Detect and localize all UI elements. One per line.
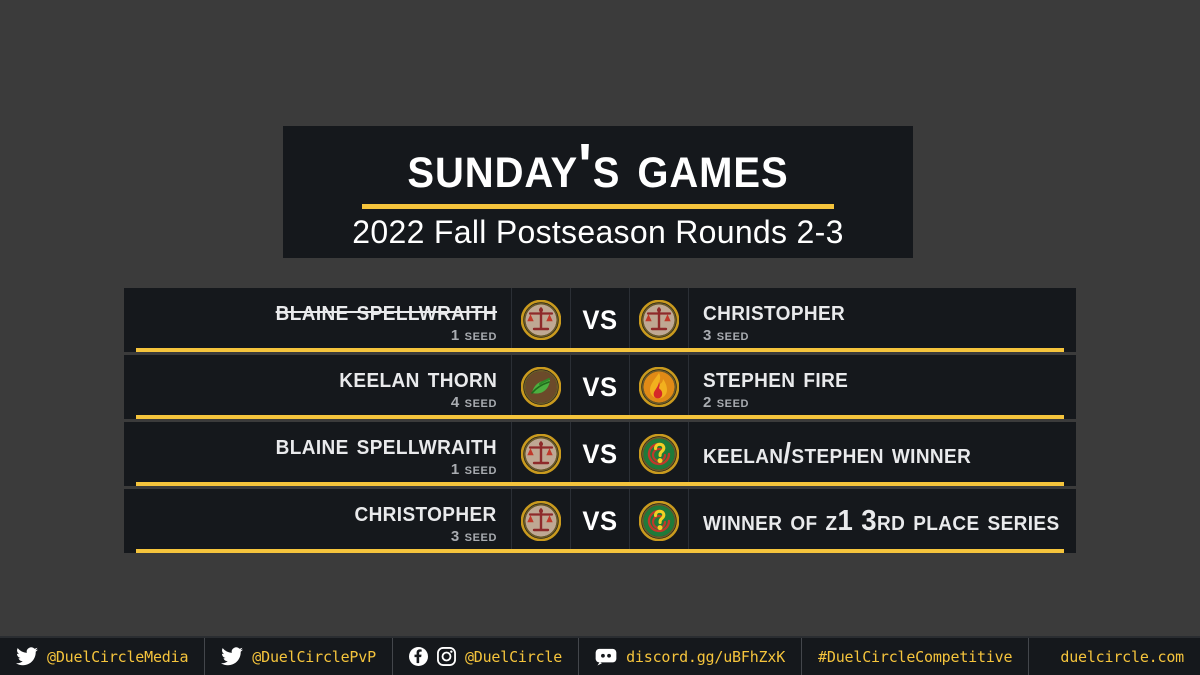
footer-item[interactable]: discord.gg/uBFhZxK (579, 638, 802, 675)
player-seed: 4 Seed (451, 394, 497, 411)
page-title: Sunday's Games (407, 136, 788, 202)
footer-item-label: @DuelCirclePvP (252, 648, 376, 666)
footer-item-label: #DuelCircleCompetitive (818, 648, 1012, 666)
facebook-icon[interactable] (409, 647, 428, 666)
player-name: Stephen Fire (703, 363, 848, 393)
match-left-player: Christopher3 Seed (124, 489, 511, 553)
scales-icon (521, 501, 561, 541)
footer-item-label: @DuelCircleMedia (47, 648, 188, 666)
left-emblem-cell (511, 355, 571, 419)
footer-item[interactable]: @DuelCircleMedia (0, 638, 205, 675)
page-subtitle: 2022 Fall Postseason Rounds 2-3 (352, 215, 843, 249)
flame-icon (639, 367, 679, 407)
row-accent-underline (136, 415, 1064, 419)
right-emblem-cell (629, 422, 689, 486)
player-name: Christopher (355, 497, 497, 527)
footer-item-label: discord.gg/uBFhZxK (626, 648, 785, 666)
vs-label: VS (572, 422, 627, 486)
discord-icon[interactable] (595, 648, 617, 666)
right-emblem-cell (629, 288, 689, 352)
twitter-icon[interactable] (16, 647, 38, 666)
player-name: Blaine Spellwraith (276, 430, 497, 460)
player-seed: 3 Seed (451, 528, 497, 545)
vs-label: VS (572, 489, 627, 553)
left-emblem-cell (511, 489, 571, 553)
match-left-player: Blaine Spellwraith1 Seed (124, 422, 511, 486)
question-icon (639, 501, 679, 541)
footer-item-label: duelcircle.com (1060, 648, 1184, 666)
row-accent-underline (136, 549, 1064, 553)
left-emblem-cell (511, 288, 571, 352)
right-emblem-cell (629, 355, 689, 419)
instagram-icon[interactable] (437, 647, 456, 666)
player-name: Christopher (703, 296, 845, 326)
twitter-icon[interactable] (221, 647, 243, 666)
footer-item[interactable]: duelcircle.com (1044, 638, 1200, 675)
social-footer: @DuelCircleMedia@DuelCirclePvP@DuelCircl… (0, 638, 1200, 675)
footer-item[interactable]: #DuelCircleCompetitive (802, 638, 1029, 675)
footer-item[interactable]: @DuelCircle (393, 638, 579, 675)
footer-item-label: @DuelCircle (465, 648, 562, 666)
vs-label: VS (572, 288, 627, 352)
player-seed: 1 Seed (451, 461, 497, 478)
player-name: Keelan/Stephen Winner (703, 439, 971, 469)
player-name: Blaine Spellwraith (276, 296, 497, 326)
match-row[interactable]: Keelan Thorn4 SeedVSStephen Fire2 Seed (124, 355, 1076, 419)
player-name: Keelan Thorn (339, 363, 497, 393)
player-seed: 3 Seed (703, 327, 749, 344)
scales-icon (639, 300, 679, 340)
match-row[interactable]: Blaine Spellwraith1 SeedVSChristopher3 S… (124, 288, 1076, 352)
match-right-player: Christopher3 Seed (689, 288, 1076, 352)
match-list: Blaine Spellwraith1 SeedVSChristopher3 S… (124, 288, 1076, 553)
leaf-icon (521, 367, 561, 407)
player-seed: 2 Seed (703, 394, 749, 411)
scales-icon (521, 300, 561, 340)
row-accent-underline (136, 348, 1064, 352)
match-right-player: Keelan/Stephen Winner (689, 422, 1076, 486)
scales-icon (521, 434, 561, 474)
right-emblem-cell (629, 489, 689, 553)
match-right-player: Winner of Z1 3rd Place Series (689, 489, 1076, 553)
row-accent-underline (136, 482, 1064, 486)
player-seed: 1 Seed (451, 327, 497, 344)
match-right-player: Stephen Fire2 Seed (689, 355, 1076, 419)
vs-label: VS (572, 355, 627, 419)
match-left-player: Keelan Thorn4 Seed (124, 355, 511, 419)
left-emblem-cell (511, 422, 571, 486)
title-card: Sunday's Games 2022 Fall Postseason Roun… (283, 126, 913, 258)
match-row[interactable]: Christopher3 SeedVSWinner of Z1 3rd Plac… (124, 489, 1076, 553)
question-icon (639, 434, 679, 474)
player-name: Winner of Z1 3rd Place Series (703, 506, 1060, 536)
match-row[interactable]: Blaine Spellwraith1 SeedVSKeelan/Stephen… (124, 422, 1076, 486)
match-left-player: Blaine Spellwraith1 Seed (124, 288, 511, 352)
title-underline-rule (362, 204, 834, 209)
footer-item[interactable]: @DuelCirclePvP (205, 638, 393, 675)
